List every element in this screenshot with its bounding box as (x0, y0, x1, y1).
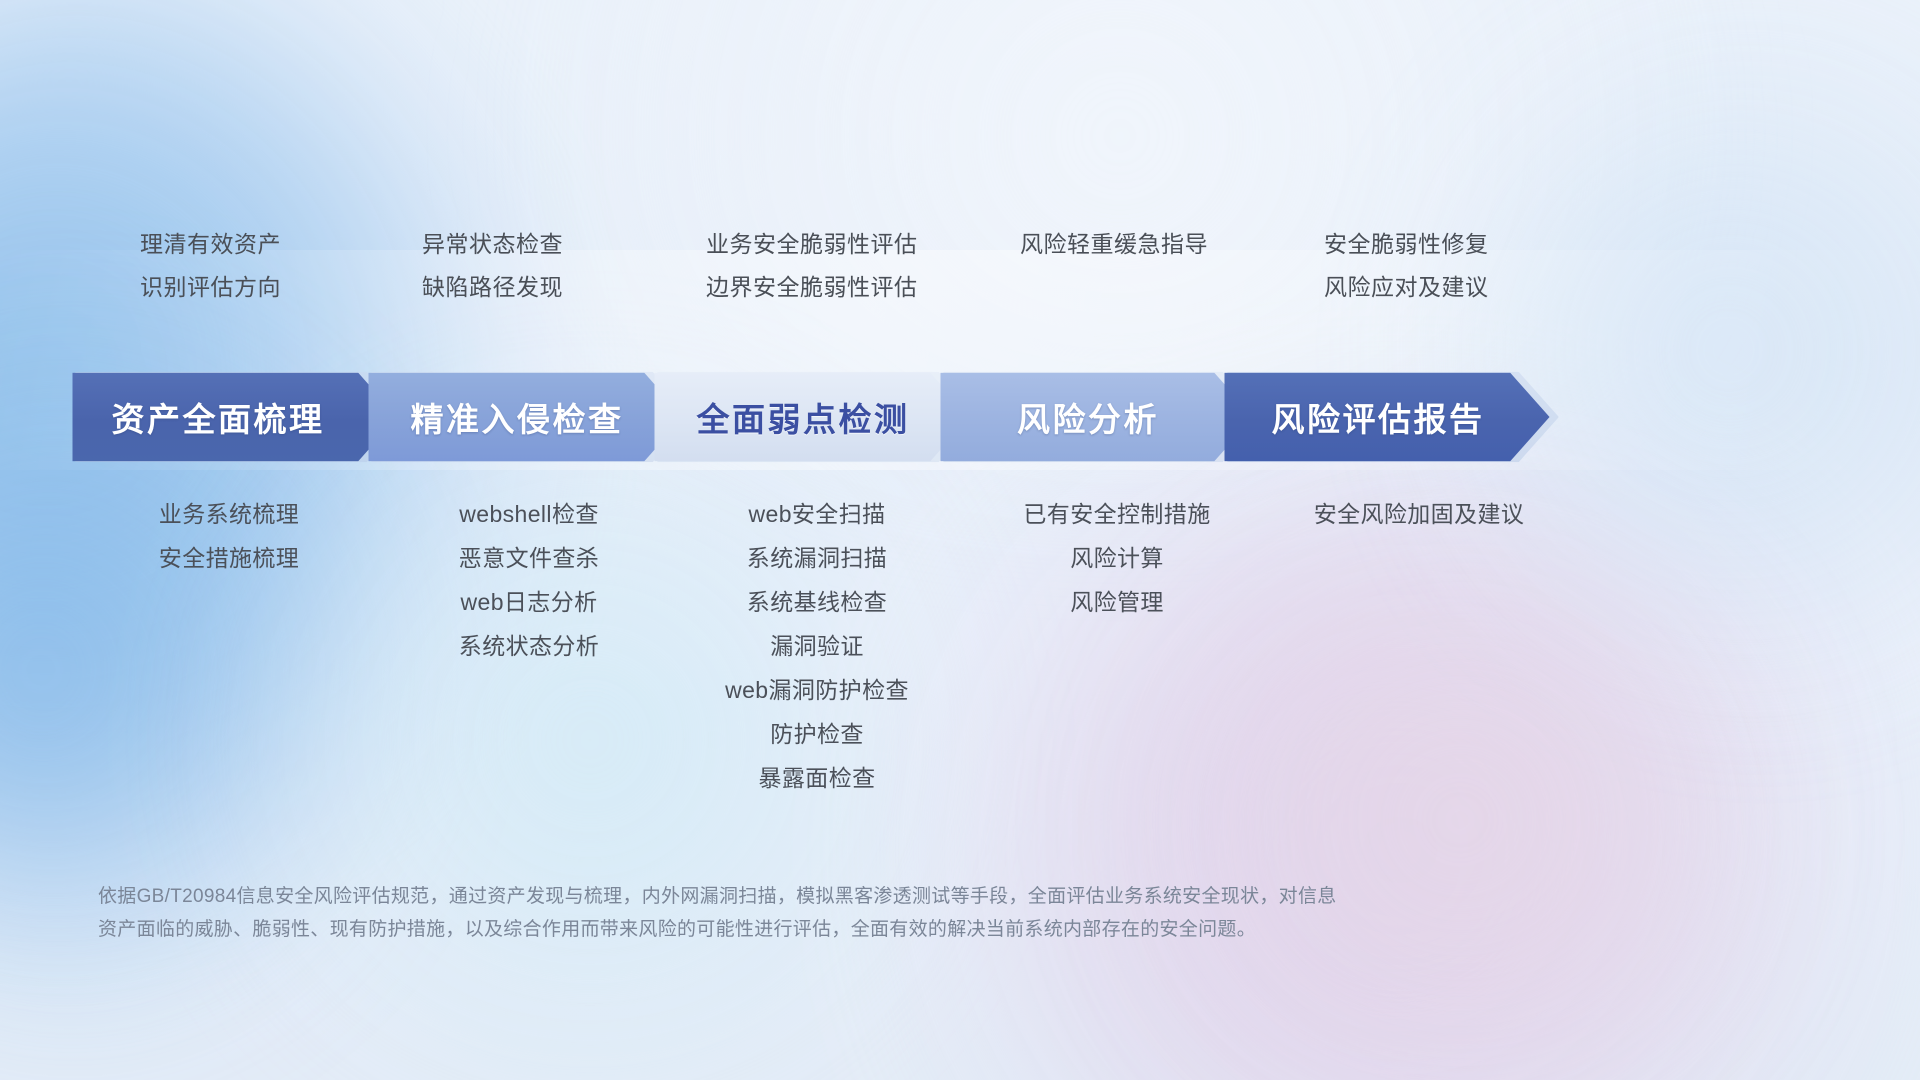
stage-label: 精准入侵检查 (366, 393, 686, 441)
list-item: 安全措施梳理 (88, 544, 370, 572)
list-item: webshell检查 (398, 500, 660, 528)
list-item: web安全扫描 (684, 500, 950, 528)
list-item: 已有安全控制措施 (994, 500, 1240, 528)
list-item: 暴露面检查 (684, 764, 950, 792)
top-notes-row: 理清有效资产 识别评估方向 异常状态检查 缺陷路径发现 业务安全脆弱性评估 边界… (70, 230, 1860, 302)
list-item: 系统漏洞扫描 (684, 544, 950, 572)
top-notes-col-1: 理清有效资产 识别评估方向 (70, 230, 370, 302)
bottom-list-col-2: webshell检查 恶意文件查杀 web日志分析 系统状态分析 (370, 500, 660, 792)
stage-chevron-asset-inventory[interactable]: 资产全面梳理 (70, 372, 400, 462)
top-note: 风险轻重缓急指导 (1020, 230, 1240, 259)
footer-line-2: 资产面临的威胁、脆弱性、现有防护措施，以及综合作用而带来风险的可能性进行评估，全… (98, 913, 1628, 946)
list-item: web日志分析 (398, 588, 660, 616)
top-note: 业务安全脆弱性评估 (706, 230, 950, 259)
item-list-risk-report: 安全风险加固及建议 (1240, 500, 1540, 528)
stage-label: 风险评估报告 (1222, 393, 1552, 441)
stage-chevron-band: 资产全面梳理 精准入侵检查 全面弱点检测 风险分析 风险评估报告 (70, 372, 1860, 462)
stage-label: 资产全面梳理 (70, 393, 400, 441)
note-list-3: 业务安全脆弱性评估 边界安全脆弱性评估 (660, 230, 950, 302)
item-list-risk-analysis: 已有安全控制措施 风险计算 风险管理 (950, 500, 1240, 616)
list-item: 系统状态分析 (398, 632, 660, 660)
top-note: 安全脆弱性修复 (1324, 230, 1540, 259)
list-item: 漏洞验证 (684, 632, 950, 660)
top-notes-col-2: 异常状态检查 缺陷路径发现 (370, 230, 660, 302)
stage-chevron-intrusion-check[interactable]: 精准入侵检查 (366, 372, 686, 462)
top-notes-col-3: 业务安全脆弱性评估 边界安全脆弱性评估 (660, 230, 950, 302)
footer-description: 依据GB/T20984信息安全风险评估规范，通过资产发现与梳理，内外网漏洞扫描，… (98, 880, 1628, 947)
list-item: 防护检查 (684, 720, 950, 748)
bottom-list-col-3: web安全扫描 系统漏洞扫描 系统基线检查 漏洞验证 web漏洞防护检查 防护检… (660, 500, 950, 792)
top-note: 缺陷路径发现 (422, 273, 660, 302)
top-note: 识别评估方向 (140, 273, 370, 302)
note-list-4: 风险轻重缓急指导 (950, 230, 1240, 259)
top-notes-col-5: 安全脆弱性修复 风险应对及建议 (1240, 230, 1540, 302)
list-item: 风险计算 (994, 544, 1240, 572)
footer-line-1: 依据GB/T20984信息安全风险评估规范，通过资产发现与梳理，内外网漏洞扫描，… (98, 880, 1628, 913)
item-list-weakness-detection: web安全扫描 系统漏洞扫描 系统基线检查 漏洞验证 web漏洞防护检查 防护检… (660, 500, 950, 792)
process-diagram: 理清有效资产 识别评估方向 异常状态检查 缺陷路径发现 业务安全脆弱性评估 边界… (0, 0, 1920, 1080)
item-list-asset-inventory: 业务系统梳理 安全措施梳理 (70, 500, 370, 572)
list-item: 业务系统梳理 (88, 500, 370, 528)
list-item: 恶意文件查杀 (398, 544, 660, 572)
bottom-list-col-4: 已有安全控制措施 风险计算 风险管理 (950, 500, 1240, 792)
list-item: 系统基线检查 (684, 588, 950, 616)
bottom-list-col-5: 安全风险加固及建议 (1240, 500, 1540, 792)
stage-chevron-risk-report[interactable]: 风险评估报告 (1222, 372, 1552, 462)
top-note: 风险应对及建议 (1324, 273, 1540, 302)
bottom-lists-row: 业务系统梳理 安全措施梳理 webshell检查 恶意文件查杀 web日志分析 … (70, 500, 1860, 792)
list-item: web漏洞防护检查 (684, 676, 950, 704)
list-item: 安全风险加固及建议 (1298, 500, 1540, 528)
top-notes-col-4: 风险轻重缓急指导 (950, 230, 1240, 302)
stage-label: 风险分析 (938, 393, 1256, 441)
note-list-2: 异常状态检查 缺陷路径发现 (370, 230, 660, 302)
stage-chevron-risk-analysis[interactable]: 风险分析 (938, 372, 1256, 462)
item-list-intrusion-check: webshell检查 恶意文件查杀 web日志分析 系统状态分析 (370, 500, 660, 660)
bottom-list-col-1: 业务系统梳理 安全措施梳理 (70, 500, 370, 792)
top-note: 异常状态检查 (422, 230, 660, 259)
top-note: 边界安全脆弱性评估 (706, 273, 950, 302)
stage-label: 全面弱点检测 (652, 393, 972, 441)
top-note: 理清有效资产 (140, 230, 370, 259)
list-item: 风险管理 (994, 588, 1240, 616)
stage-chevron-weakness-detection[interactable]: 全面弱点检测 (652, 372, 972, 462)
note-list-5: 安全脆弱性修复 风险应对及建议 (1240, 230, 1540, 302)
note-list-1: 理清有效资产 识别评估方向 (70, 230, 370, 302)
